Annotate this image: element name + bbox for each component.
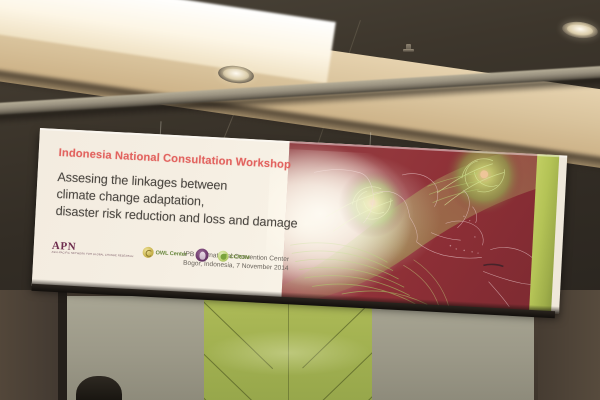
wind-map-svg <box>281 141 547 312</box>
sprinkler-arms <box>403 49 414 52</box>
ccrom-logo-text: CCROM <box>230 254 250 261</box>
fire-sprinkler-head <box>403 44 414 55</box>
ccrom-leaf-icon <box>217 251 229 263</box>
wind-map-graphic <box>281 141 547 312</box>
downlight-lens <box>223 68 250 81</box>
seal-logo <box>195 249 209 263</box>
event-banner: Indonesia National Consultation Workshop… <box>31 128 567 327</box>
downlight-lens <box>567 24 594 37</box>
owl-center-logo: OWL Center <box>142 247 187 260</box>
banner-face: Indonesia National Consultation Workshop… <box>32 128 568 313</box>
green-panel-glare <box>204 330 372 376</box>
photo-scene: Indonesia National Consultation Workshop… <box>0 0 600 400</box>
wall-return-left <box>0 290 62 400</box>
ccrom-logo: CCROM <box>217 251 249 264</box>
wall-panel-frame <box>58 292 67 400</box>
owl-logo-text: OWL Center <box>155 250 186 258</box>
owl-swirl-icon <box>142 247 154 259</box>
seal-emblem-icon <box>195 249 209 263</box>
